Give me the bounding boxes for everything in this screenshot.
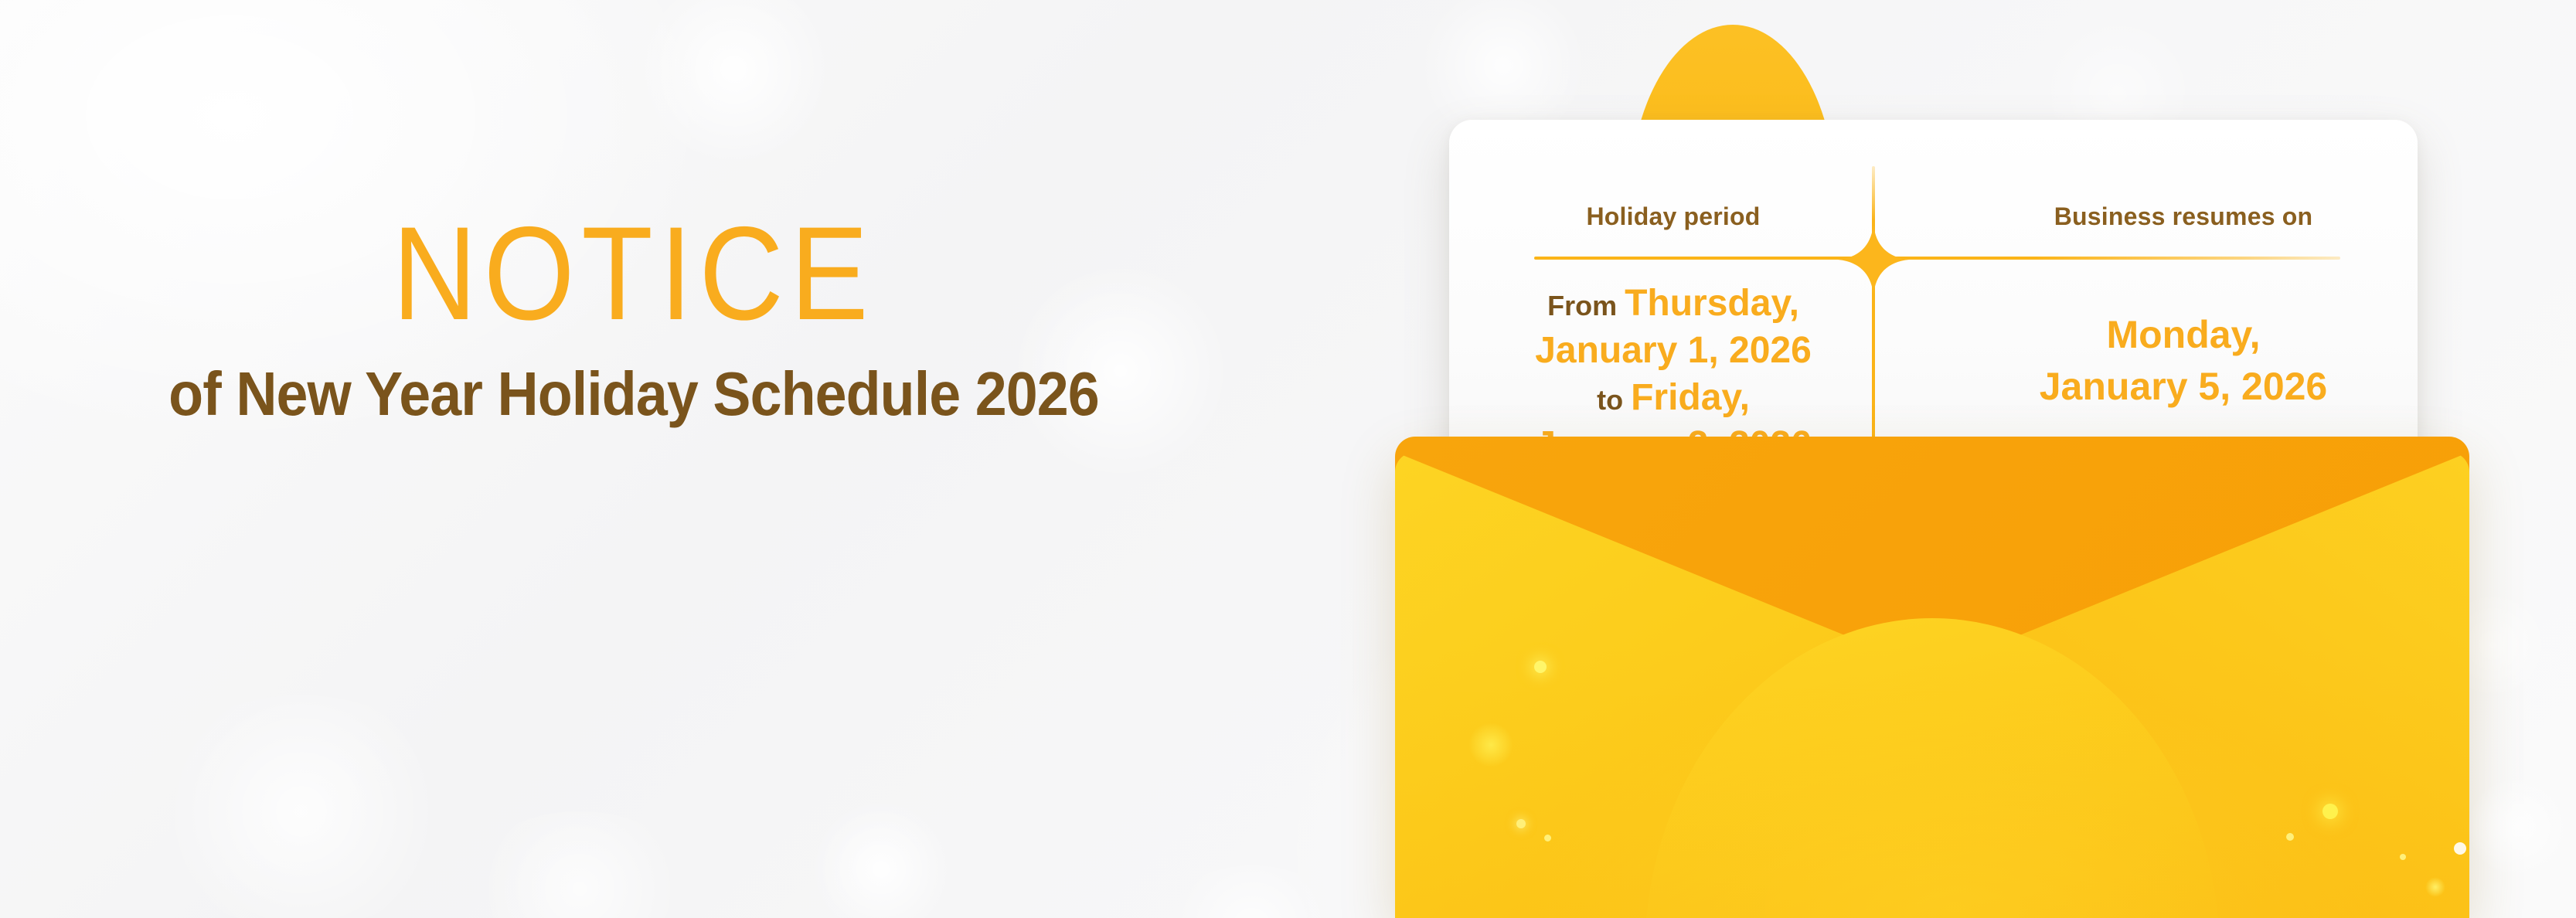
date-line: to Friday, bbox=[1480, 375, 1866, 422]
date-line: From Thursday, bbox=[1480, 280, 1866, 328]
date-line: Monday, bbox=[1990, 309, 2377, 361]
date-line: January 5, 2026 bbox=[1990, 361, 2377, 413]
date-value: Monday, bbox=[2106, 313, 2260, 356]
date-value: Friday, bbox=[1631, 377, 1750, 418]
envelope-front-hump bbox=[1395, 452, 2469, 918]
divider-horizontal-top bbox=[1534, 257, 2340, 260]
column-header-holiday-period: Holiday period bbox=[1492, 202, 1855, 231]
notice-banner: NOTICE of New Year Holiday Schedule 2026… bbox=[0, 0, 2576, 918]
page-subtitle: of New Year Holiday Schedule 2026 bbox=[51, 360, 1217, 428]
column-header-business-resumes: Business resumes on bbox=[2002, 202, 2365, 231]
spark-particle bbox=[2465, 773, 2574, 881]
date-line: January 1, 2026 bbox=[1480, 328, 1866, 375]
bokeh-orb bbox=[464, 811, 696, 918]
date-value: January 1, 2026 bbox=[1535, 330, 1812, 371]
date-lead: From bbox=[1547, 290, 1625, 321]
bokeh-orb bbox=[139, 695, 464, 918]
date-value: January 5, 2026 bbox=[2040, 365, 2328, 408]
bokeh-orb bbox=[634, 0, 835, 170]
date-lead: to bbox=[1597, 384, 1631, 416]
envelope-icon: Holiday period Business resumes on From … bbox=[1353, 0, 2576, 918]
bokeh-orb bbox=[812, 780, 951, 918]
page-title: NOTICE bbox=[76, 207, 1191, 340]
date-value: Thursday, bbox=[1625, 283, 1799, 324]
headline-block: NOTICE of New Year Holiday Schedule 2026 bbox=[0, 207, 1268, 428]
bokeh-orb bbox=[1159, 865, 1345, 918]
business-resume-value: Monday, January 5, 2026 bbox=[1990, 309, 2377, 413]
